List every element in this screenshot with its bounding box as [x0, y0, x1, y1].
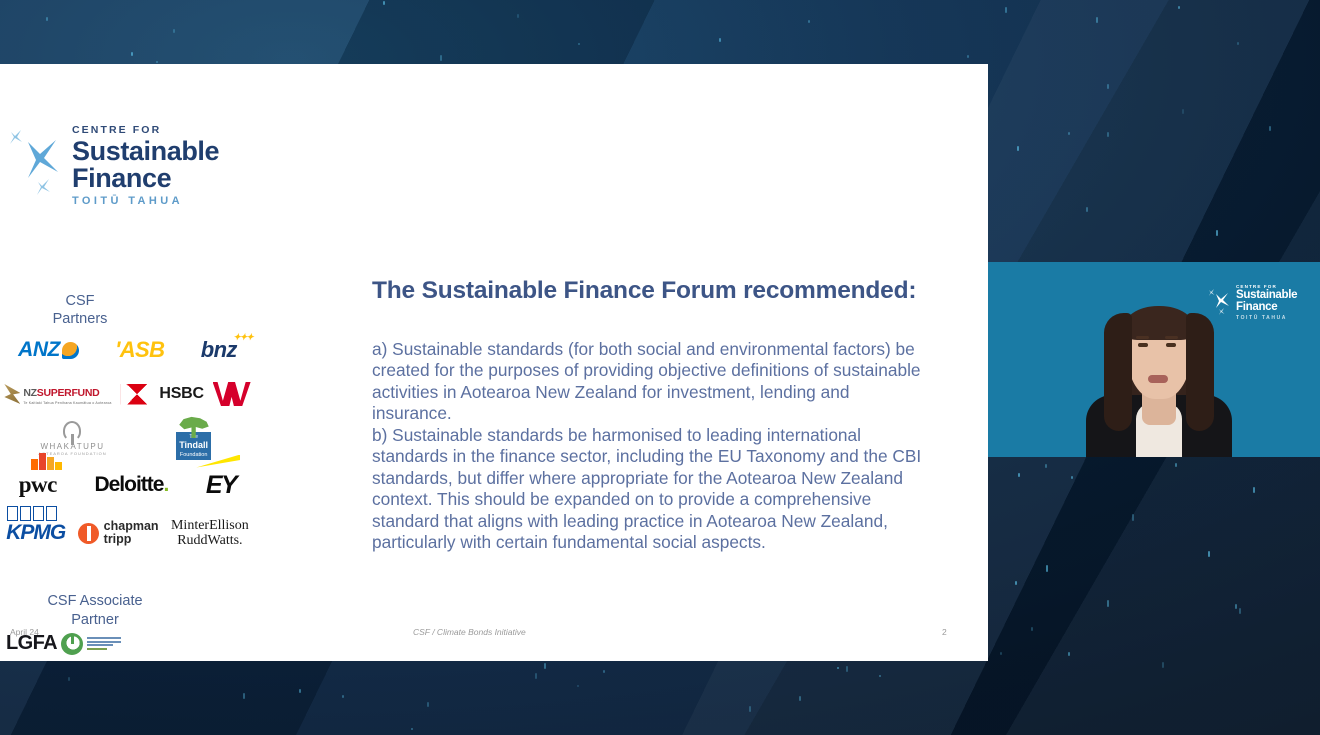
- deloitte-logo-label: Deloitte: [94, 473, 163, 496]
- nzsf-sub: Te Kaitiaki Tahua Penihana Kaumātua o Ao…: [23, 401, 111, 406]
- bnz-logo-label: bnz: [201, 337, 237, 362]
- minter-label-a: MinterEllison: [171, 518, 249, 533]
- pwc-logo-label: pwc: [19, 472, 57, 498]
- asb-logo: 'ASB: [115, 337, 164, 363]
- chapman-tripp-c-icon: [78, 523, 99, 544]
- hsbc-logo: HSBC: [120, 384, 204, 405]
- csf-logo-line2: Sustainable: [72, 138, 219, 165]
- anz-logo-label: ANZ: [18, 338, 60, 362]
- partners-caption-line2: Partners: [0, 310, 160, 328]
- tindall-label: Tindall: [179, 440, 208, 450]
- speaker-hair-right: [1186, 313, 1214, 431]
- csf-associate-partner-block: CSF Associate Partner LGFA: [0, 592, 190, 655]
- ey-logo-label: EY: [206, 471, 236, 500]
- speaker-hair-fringe: [1122, 306, 1196, 340]
- video-logo-line2: Sustainable: [1236, 290, 1297, 302]
- x-star-mark-icon: [1208, 286, 1234, 316]
- partners-caption-line1: CSF: [0, 292, 160, 310]
- nz-super-fund-logo: NZSUPERFUND Te Kaitiaki Tahua Penihana K…: [4, 383, 111, 406]
- x-star-mark-icon: [8, 120, 70, 200]
- speaker-hair-left: [1104, 313, 1132, 431]
- tindall-sub: Foundation: [179, 451, 208, 459]
- csf-partners-block: CSF Partners ANZ 'ASB bnz✦✦✦ NZSUPERFUND…: [0, 292, 255, 556]
- slide-footer: April 24 CSF / Climate Bonds Initiative …: [0, 627, 988, 643]
- slide-paragraph-a: a) Sustainable standards (for both socia…: [372, 339, 932, 425]
- speaker-eye-left: [1138, 343, 1148, 347]
- ey-logo: EY: [206, 471, 236, 500]
- partner-logo-row: pwc Deloitte. EY: [0, 460, 255, 510]
- csf-logo-watermark: CENTRE FOR Sustainable Finance TOITŪ TAH…: [1208, 284, 1308, 318]
- associate-caption-line1: CSF Associate: [0, 592, 190, 611]
- chapman-tripp-logo: chapman tripp: [78, 520, 159, 546]
- csf-logo-line1: CENTRE FOR: [72, 124, 219, 136]
- speaker-eyebrow-right: [1165, 336, 1178, 339]
- pwc-logo: pwc: [19, 472, 57, 498]
- bnz-logo: bnz✦✦✦: [201, 337, 237, 363]
- westpac-logo: [213, 382, 251, 406]
- minter-ellison-rudd-watts-logo: MinterEllison RuddWatts.: [171, 518, 249, 548]
- chapman-label-b: tripp: [104, 533, 159, 546]
- footer-center-label: CSF / Climate Bonds Initiative: [413, 627, 526, 637]
- hsbc-logo-label: HSBC: [159, 385, 204, 403]
- slide-heading: The Sustainable Finance Forum recommende…: [372, 277, 916, 305]
- anz-logo: ANZ: [18, 338, 79, 362]
- nzsf-label-a: NZ: [23, 387, 36, 399]
- pwc-blocks-icon: [31, 453, 62, 470]
- westpac-w-icon: [213, 382, 251, 406]
- bnz-stars-icon: ✦✦✦: [233, 332, 253, 343]
- speaker-video-tile[interactable]: CENTRE FOR Sustainable Finance TOITŪ TAH…: [988, 262, 1320, 457]
- hsbc-hexagon-icon: [120, 384, 154, 405]
- partner-logo-row: KPMG chapman tripp MinterEllison RuddWat…: [0, 510, 255, 556]
- footer-date: April 24: [10, 627, 39, 637]
- kpmg-logo-label: KPMG: [6, 521, 65, 545]
- whakatupu-koru-icon: [63, 421, 81, 441]
- slide-paragraph-b: b) Sustainable standards be harmonised t…: [372, 425, 932, 553]
- minter-label-b: RuddWatts.: [171, 533, 249, 548]
- shared-slide[interactable]: CENTRE FOR Sustainable Finance TOITŪ TAH…: [0, 64, 988, 661]
- video-logo-line4: TOITŪ TAHUA: [1236, 315, 1297, 321]
- video-logo-line3: Finance: [1236, 302, 1297, 314]
- nzsf-swoosh-icon: [4, 384, 20, 404]
- kpmg-logo: KPMG: [6, 521, 65, 545]
- whakatupu-aotearoa-foundation-logo: WHAKATUPU AOTEAROA FOUNDATION: [38, 421, 106, 456]
- kpmg-bars-icon: [7, 506, 57, 521]
- csf-logo-line4: TOITŪ TAHUA: [72, 195, 219, 207]
- asb-logo-label: 'ASB: [115, 337, 164, 363]
- csf-logo: CENTRE FOR Sustainable Finance TOITŪ TAH…: [8, 114, 238, 214]
- nzsf-label-b: SUPERFUND: [37, 387, 100, 399]
- speaker-mouth: [1148, 375, 1168, 383]
- speaker-eyebrow-left: [1136, 336, 1149, 339]
- partner-logo-row: ANZ 'ASB bnz✦✦✦: [0, 328, 255, 372]
- partner-logo-row: NZSUPERFUND Te Kaitiaki Tahua Penihana K…: [0, 372, 255, 416]
- csf-logo-line3: Finance: [72, 165, 219, 192]
- speaker-eye-right: [1166, 343, 1176, 347]
- footer-page-number: 2: [942, 627, 947, 637]
- tindall-foundation-logo: The Tindall Foundation: [171, 416, 217, 460]
- deloitte-logo: Deloitte.: [94, 473, 168, 497]
